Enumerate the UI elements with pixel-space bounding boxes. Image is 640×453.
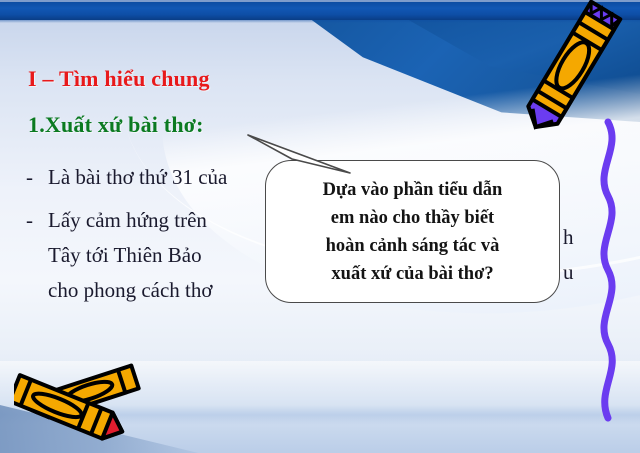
speech-bubble-tail <box>246 133 356 179</box>
speech-bubble-line: hoàn cảnh sáng tác và <box>323 232 503 260</box>
speech-bubble-line: xuất xứ của bài thơ? <box>323 260 503 288</box>
speech-bubble-text: Dựa vào phần tiểu dẫn em nào cho thầy bi… <box>313 176 513 288</box>
speech-bubble-line: em nào cho thầy biết <box>323 204 503 232</box>
slide-canvas: I – Tìm hiểu chung 1.Xuất xứ bài thơ: - … <box>0 0 640 453</box>
occluded-text-fragment: u <box>563 260 574 285</box>
crossed-crayons-icon <box>14 352 164 452</box>
speech-bubble-line: Dựa vào phần tiểu dẫn <box>323 176 503 204</box>
heading-section-title: I – Tìm hiểu chung <box>28 66 210 92</box>
crayon-purple-tip-icon <box>505 0 635 139</box>
purple-squiggle-line <box>578 118 638 428</box>
bullet-marker: - <box>26 203 48 238</box>
bullet-marker: - <box>26 160 48 195</box>
heading-subsection-title: 1.Xuất xứ bài thơ: <box>28 112 204 138</box>
speech-bubble: Dựa vào phần tiểu dẫn em nào cho thầy bi… <box>265 160 560 303</box>
occluded-text-fragment: h <box>563 225 574 250</box>
